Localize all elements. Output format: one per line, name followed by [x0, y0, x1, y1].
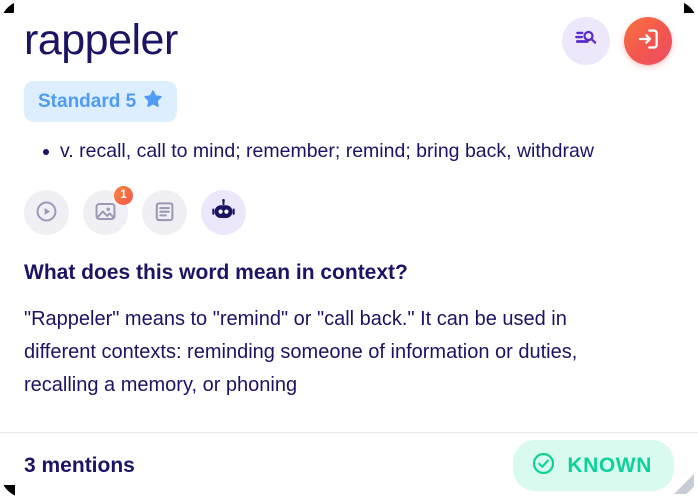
check-circle-icon: [531, 451, 556, 480]
star-icon: [143, 89, 163, 113]
known-button[interactable]: KNOWN: [513, 440, 674, 491]
badge-row: Standard 5: [24, 81, 674, 122]
window-corner-top-left: [0, 0, 14, 13]
page-title: rappeler: [24, 16, 178, 65]
standard-badge-label: Standard 5: [38, 92, 136, 111]
known-button-label: KNOWN: [567, 455, 652, 476]
definition-list: v. recall, call to mind; remember; remin…: [24, 136, 674, 168]
document-icon: [152, 199, 177, 227]
window-corner-bottom-left: [0, 485, 15, 498]
card-content: rappeler: [0, 0, 698, 432]
context-body: "Rappeler" means to "remind" or "call ba…: [24, 303, 604, 402]
image-count-badge: 1: [114, 186, 133, 205]
article-button[interactable]: [142, 190, 187, 235]
header: rappeler: [24, 0, 674, 65]
footer-bar: 3 mentions KNOWN: [0, 432, 698, 498]
login-button[interactable]: [624, 17, 672, 65]
window-resize-handle[interactable]: [674, 474, 694, 494]
window-corner-top-right: [684, 0, 698, 13]
play-audio-button[interactable]: [24, 190, 69, 235]
list-item: v. recall, call to mind; remember; remin…: [60, 136, 640, 168]
play-circle-icon: [34, 199, 59, 227]
image-icon: [93, 199, 118, 227]
login-icon: [635, 26, 661, 55]
mentions-count: 3 mentions: [24, 454, 135, 478]
word-detail-card: rappeler: [0, 0, 698, 498]
media-action-row: 1: [24, 190, 674, 235]
content-fade-mask: [0, 410, 698, 432]
images-button[interactable]: 1: [83, 190, 128, 235]
header-actions: [562, 17, 674, 65]
search-users-icon: [573, 26, 599, 55]
status-badge[interactable]: Standard 5: [24, 81, 177, 122]
ai-assistant-button[interactable]: [201, 190, 246, 235]
robot-icon: [210, 198, 237, 228]
search-users-button[interactable]: [562, 17, 610, 65]
context-heading: What does this word mean in context?: [24, 261, 674, 285]
